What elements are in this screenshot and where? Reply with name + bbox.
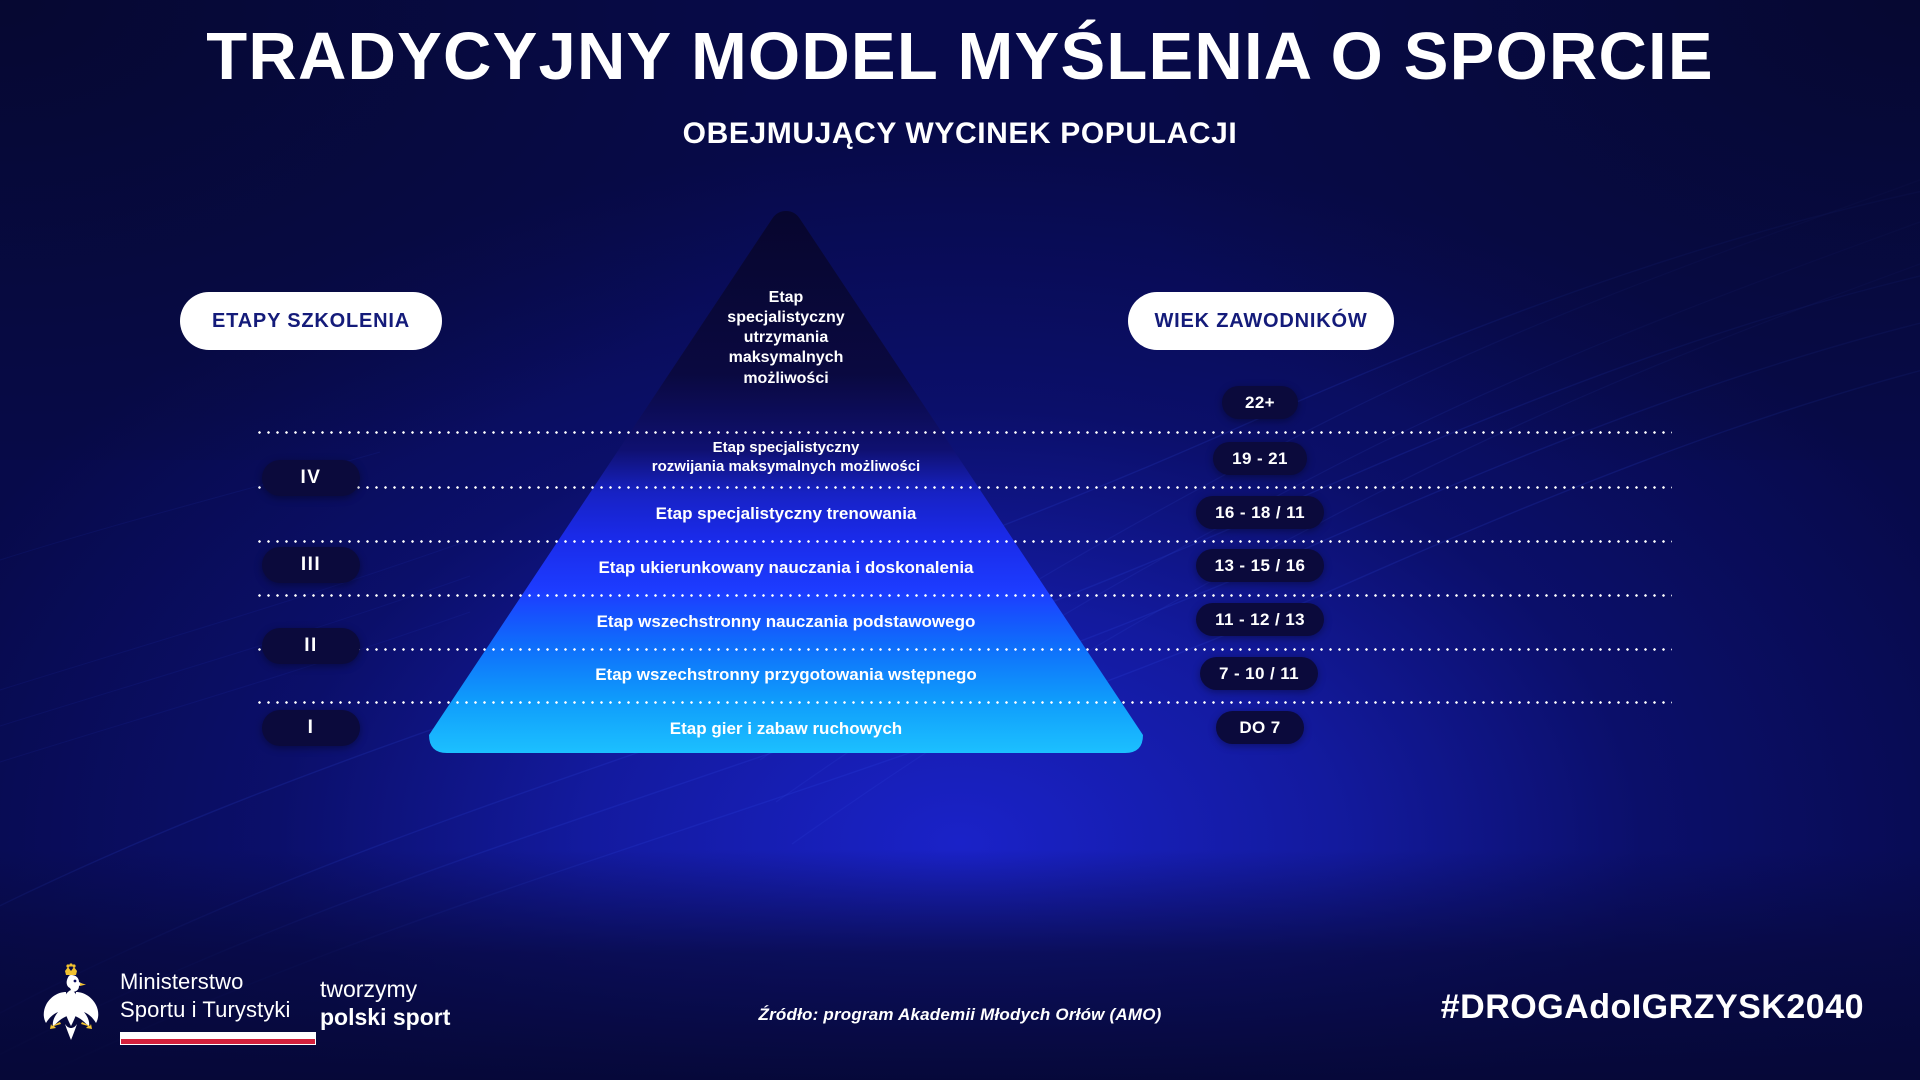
tier-divider-3: [255, 540, 1672, 543]
campaign-hashtag: #DROGAdoIGRZYSK2040: [1441, 988, 1864, 1027]
age-badge-4: 13 - 15 / 16: [1196, 549, 1324, 582]
page-title: TRADYCYJNY MODEL MYŚLENIA O SPORCIE: [0, 22, 1920, 92]
age-badge-5: 11 - 12 / 13: [1196, 603, 1324, 636]
ministry-line-1: Ministerstwo: [120, 968, 316, 996]
ministry-name-block: Ministerstwo Sportu i Turystyki: [120, 962, 316, 1045]
stage-badge-iv: IV: [262, 460, 360, 496]
stage-badge-i: I: [262, 710, 360, 746]
tier-divider-1: [255, 431, 1672, 434]
stage-badge-iii: III: [262, 547, 360, 583]
age-badge-2: 19 - 21: [1213, 442, 1307, 475]
ages-column-header: WIEK ZAWODNIKÓW: [1128, 292, 1394, 350]
tier-divider-6: [255, 701, 1672, 704]
stages-column-header: ETAPY SZKOLENIA: [180, 292, 442, 350]
tier-divider-2: [255, 486, 1672, 489]
age-badge-1: 22+: [1222, 386, 1298, 419]
training-pyramid: Etap specjalistyczny utrzymania maksymal…: [429, 205, 1143, 753]
pyramid-shape: [429, 205, 1143, 753]
tier-divider-5: [255, 648, 1672, 651]
stage-badge-ii: II: [262, 628, 360, 664]
page-subtitle: OBEJMUJĄCY WYCINEK POPULACJI: [0, 117, 1920, 151]
age-badge-6: 7 - 10 / 11: [1200, 657, 1318, 690]
tier-divider-4: [255, 594, 1672, 597]
tagline-line-1: tworzymy: [320, 975, 450, 1003]
ministry-logo-block: Ministerstwo Sportu i Turystyki: [38, 962, 316, 1045]
polish-eagle-icon: [38, 962, 104, 1044]
flag-red-stripe: [121, 1039, 315, 1045]
age-badge-3: 16 - 18 / 11: [1196, 496, 1324, 529]
polish-flag-bar: [120, 1032, 316, 1045]
age-badge-7: DO 7: [1216, 711, 1304, 744]
header: TRADYCYJNY MODEL MYŚLENIA O SPORCIE OBEJ…: [0, 22, 1920, 151]
